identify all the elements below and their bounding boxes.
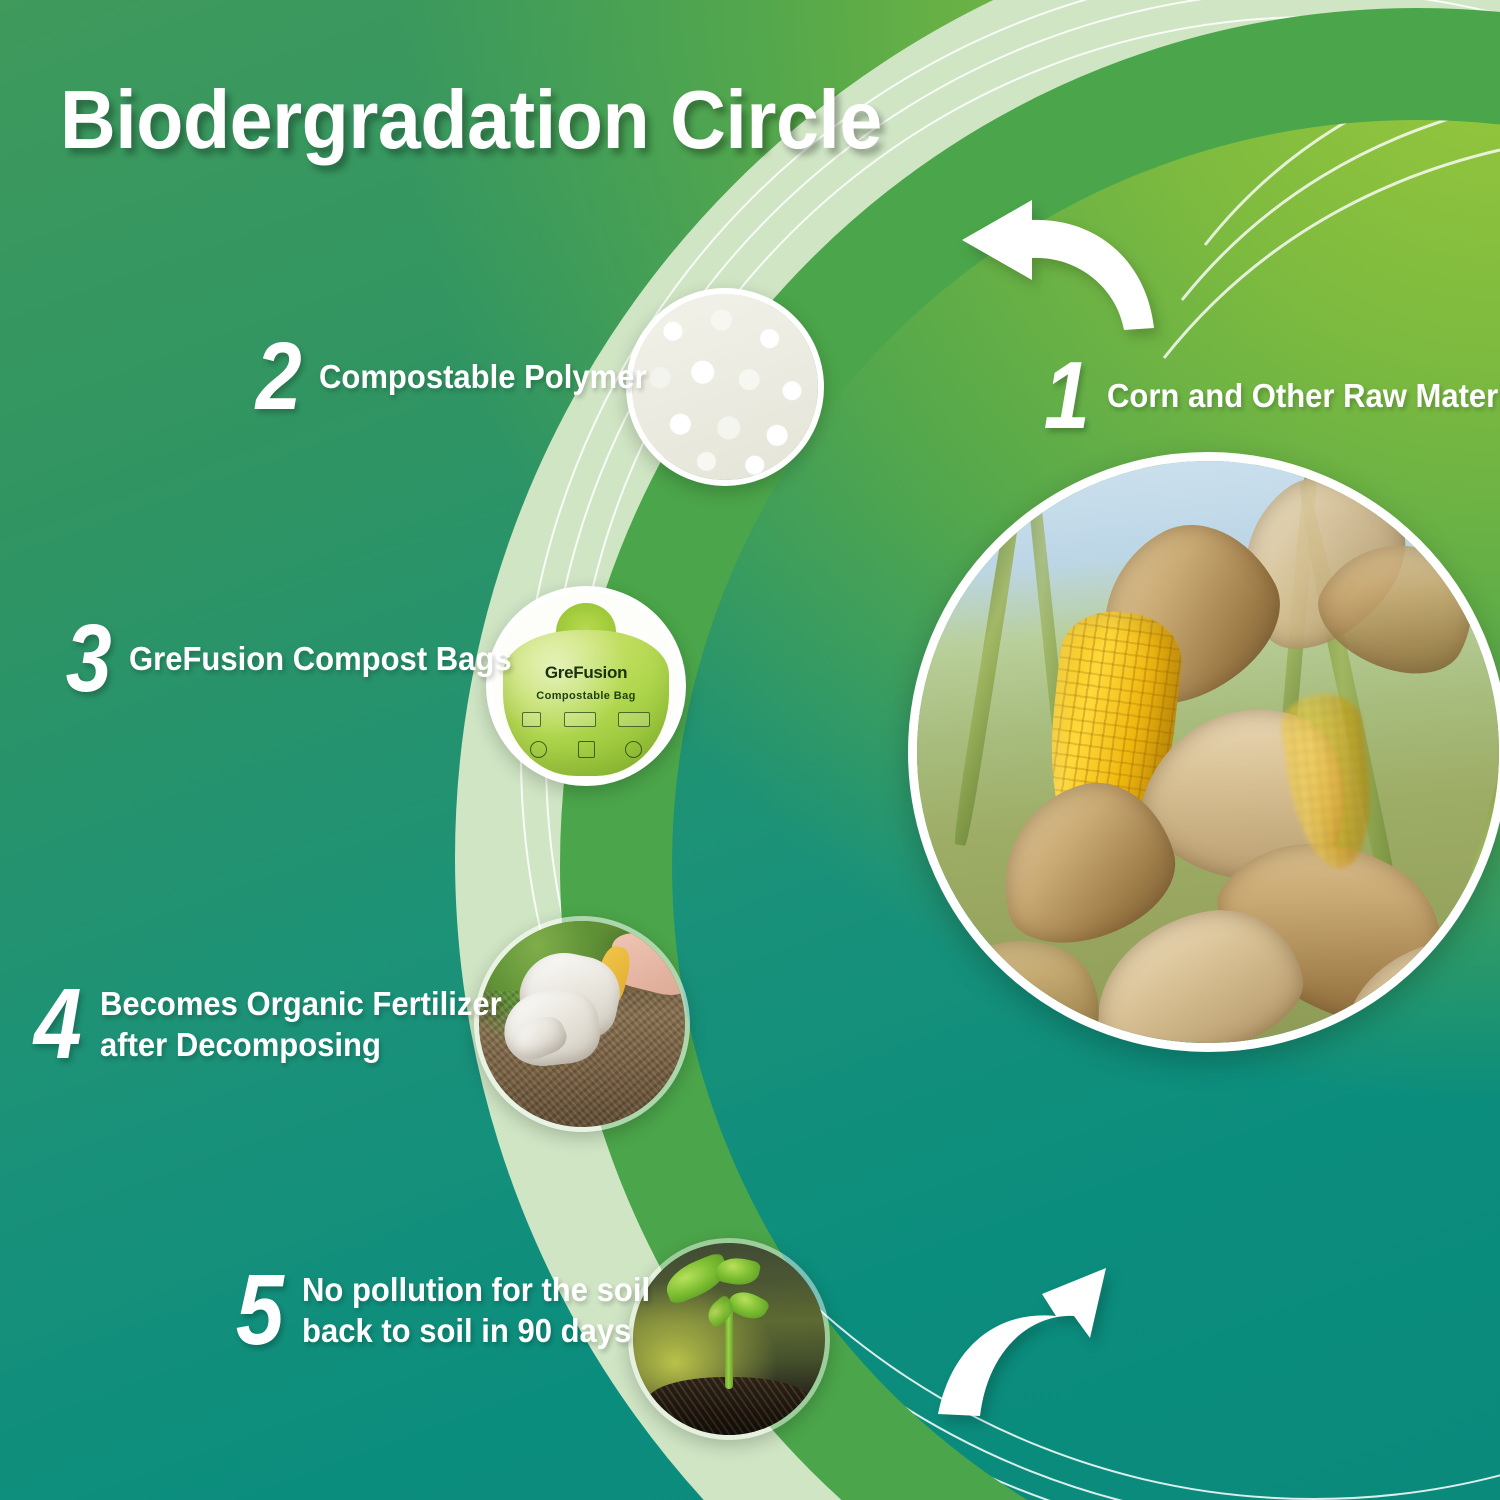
step-5-label: 5 No pollution for the soil back to soil…: [232, 1268, 672, 1353]
step-1-number: 1: [1044, 355, 1090, 437]
step-4-text: Becomes Organic Fertilizer after Decompo…: [100, 984, 502, 1065]
step-5-text: No pollution for the soil back to soil i…: [302, 1270, 650, 1351]
step-5-number: 5: [236, 1268, 284, 1353]
cycle-arrow-bottom: [930, 1248, 1130, 1418]
step-4-label: 4 Becomes Organic Fertilizer after Decom…: [30, 982, 527, 1067]
step-2-number: 2: [256, 336, 302, 418]
step-3-number: 3: [66, 618, 112, 700]
infographic-canvas: Biodergradation Circle: [0, 0, 1500, 1500]
step-1-image-corn-field: [908, 452, 1500, 1052]
step-1-text: Corn and Other Raw Materials: [1107, 376, 1500, 416]
cycle-arrow-top: [940, 196, 1170, 336]
step-3-text: GreFusion Compost Bags: [129, 639, 512, 679]
bag-compost-logos: [530, 741, 643, 758]
step-4-number: 4: [34, 982, 82, 1067]
bag-certification-marks: [522, 712, 650, 727]
page-title: Biodergradation Circle: [60, 78, 882, 161]
step-2-label: 2 Compostable Polymer: [252, 336, 668, 418]
step-3-label: 3 GreFusion Compost Bags: [62, 618, 536, 700]
step-1-label: 1 Corn and Other Raw Materials: [1040, 355, 1500, 437]
step-2-text: Compostable Polymer: [319, 357, 647, 397]
